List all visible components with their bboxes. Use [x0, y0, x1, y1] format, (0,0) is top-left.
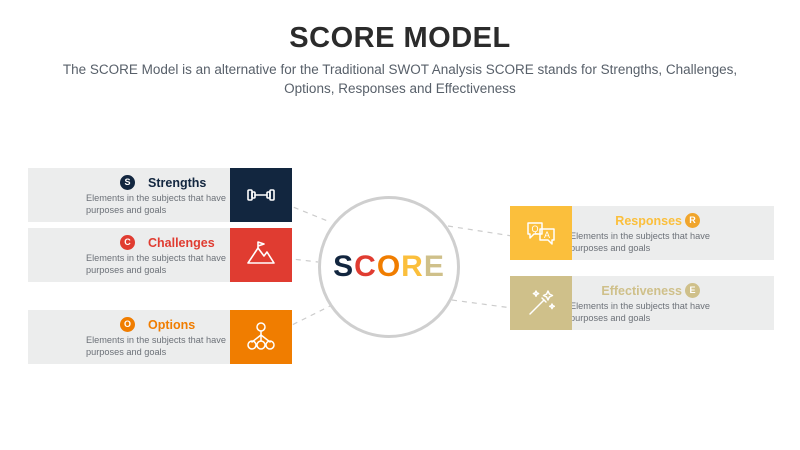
item-strengths[interactable]: S Strengths Elements in the subjects tha… — [28, 168, 292, 222]
question-answer-icon: Q A — [524, 216, 558, 250]
item-challenges-label: Challenges — [148, 236, 215, 250]
item-strengths-icon-box — [230, 168, 292, 222]
item-responses-label: Responses — [615, 214, 682, 228]
dumbbell-icon — [244, 178, 278, 212]
item-options[interactable]: O Options Elements in the subjects that … — [28, 310, 292, 364]
infographic-canvas: SCORE MODEL The SCORE Model is an altern… — [0, 0, 800, 450]
svg-text:A: A — [544, 230, 550, 240]
item-strengths-label: Strengths — [148, 176, 206, 190]
item-responses-icon-box: Q A — [510, 206, 572, 260]
item-responses-desc: Elements in the subjects that have purpo… — [570, 231, 716, 254]
item-effectiveness-badge: E — [685, 283, 700, 298]
idea-tree-icon — [244, 320, 278, 354]
center-letter-r: R — [401, 250, 424, 283]
item-challenges-badge: C — [120, 235, 135, 250]
mountain-flag-icon — [244, 238, 278, 272]
item-options-badge: O — [120, 317, 135, 332]
item-options-icon-box — [230, 310, 292, 364]
center-letter-o: O — [377, 250, 401, 283]
magic-wand-icon — [524, 286, 558, 320]
center-word: SCORE — [318, 250, 460, 284]
item-responses-badge: R — [685, 213, 700, 228]
item-options-label: Options — [148, 318, 195, 332]
item-responses[interactable]: R Responses Elements in the subjects tha… — [510, 206, 774, 260]
item-effectiveness[interactable]: E Effectiveness Elements in the subjects… — [510, 276, 774, 330]
svg-text:Q: Q — [531, 224, 538, 234]
item-effectiveness-desc: Elements in the subjects that have purpo… — [570, 301, 716, 324]
item-strengths-badge: S — [120, 175, 135, 190]
item-effectiveness-label: Effectiveness — [601, 284, 682, 298]
item-effectiveness-icon-box — [510, 276, 572, 330]
center-letter-c: C — [354, 250, 377, 283]
item-challenges-icon-box — [230, 228, 292, 282]
item-challenges-desc: Elements in the subjects that have purpo… — [86, 253, 226, 276]
item-options-desc: Elements in the subjects that have purpo… — [86, 335, 226, 358]
center-letter-s: S — [333, 250, 354, 283]
item-strengths-desc: Elements in the subjects that have purpo… — [86, 193, 226, 216]
center-letter-e: E — [424, 250, 445, 283]
item-challenges[interactable]: C Challenges Elements in the subjects th… — [28, 228, 292, 282]
